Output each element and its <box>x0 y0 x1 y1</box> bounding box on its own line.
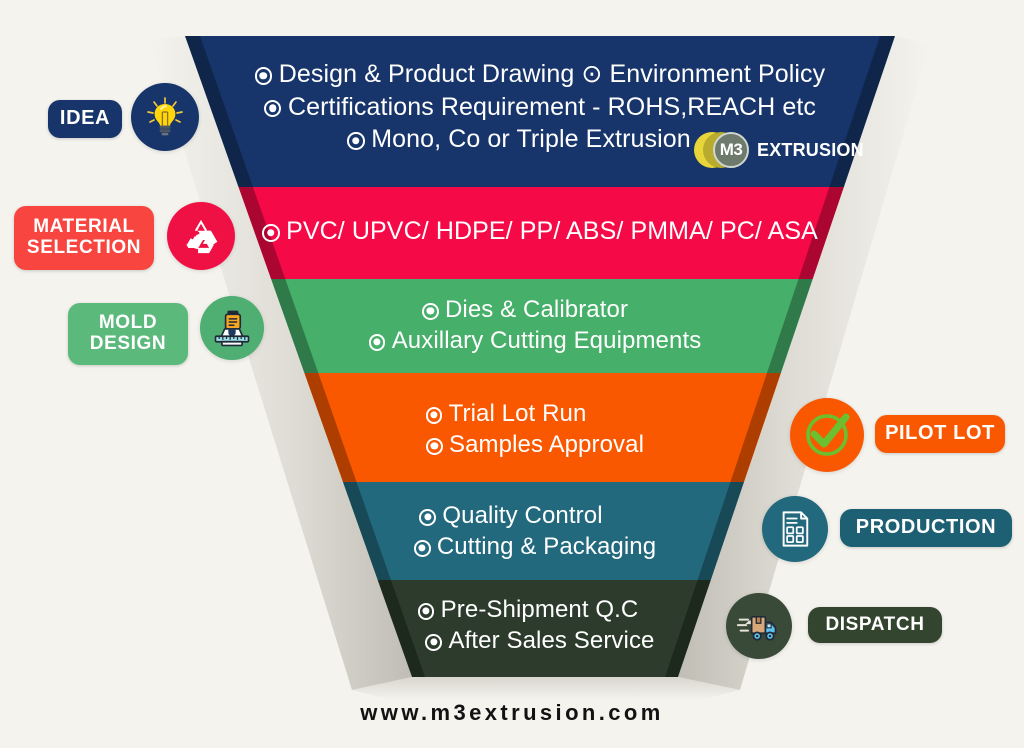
funnel-bottom-shade <box>352 677 740 700</box>
document-checklist-icon[interactable] <box>762 496 828 562</box>
stage-label-text: PILOT LOT <box>885 423 995 445</box>
delivery-truck-icon[interactable] <box>726 593 792 659</box>
stage-label-mold-design[interactable]: MOLD DESIGN <box>68 303 188 365</box>
website-url[interactable]: www.m3extrusion.com <box>0 700 1024 726</box>
lightbulb-icon[interactable] <box>131 83 199 151</box>
m3-logo-wordmark: EXTRUSION <box>757 140 864 161</box>
stage-label-dispatch[interactable]: DISPATCH <box>808 607 942 643</box>
m3-extrusion-logo: M3 EXTRUSION <box>694 130 864 170</box>
m3-coin-mark-icon: M3 <box>694 130 756 170</box>
stage-label-text: PRODUCTION <box>856 517 996 539</box>
check-circle-icon[interactable] <box>790 398 864 472</box>
stage-label-text-line2: SELECTION <box>27 238 141 259</box>
stage-label-material-selection[interactable]: MATERIAL SELECTION <box>14 206 154 270</box>
stage-label-production[interactable]: PRODUCTION <box>840 509 1012 547</box>
stage-label-text-line1: MATERIAL <box>27 217 141 238</box>
m3-coin-gray: M3 <box>713 132 749 168</box>
infographic-canvas: Design & Product Drawing ⊙ Environment P… <box>0 0 1024 748</box>
stage-label-pilot-lot[interactable]: PILOT LOT <box>875 415 1005 453</box>
stage-label-text-line1: MOLD <box>90 313 166 334</box>
stage-label-text: IDEA <box>60 108 110 130</box>
recycle-icon[interactable] <box>167 202 235 270</box>
mold-press-icon[interactable] <box>200 296 264 360</box>
stage-label-idea[interactable]: IDEA <box>48 100 122 138</box>
stage-label-text: DISPATCH <box>825 615 924 636</box>
stage-label-text-line2: DESIGN <box>90 334 166 355</box>
